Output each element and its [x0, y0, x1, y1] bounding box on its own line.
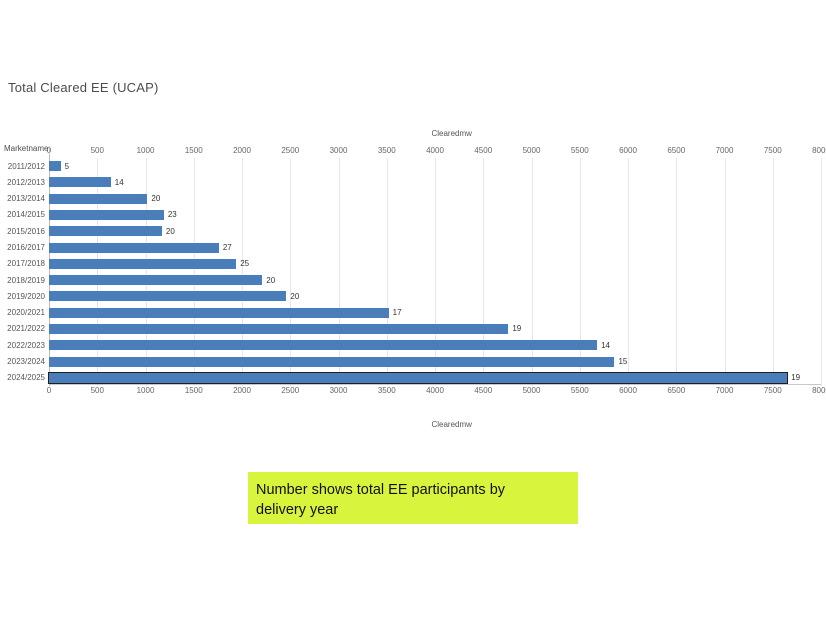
x-tick-label: 8000: [812, 146, 826, 155]
x-tick-label: 6500: [667, 386, 685, 395]
category-label[interactable]: 2021/2022: [0, 324, 45, 333]
x-tick-label: 6500: [667, 146, 685, 155]
x-tick-label: 3000: [330, 386, 348, 395]
bar[interactable]: [49, 324, 508, 334]
annotation-line-2: delivery year: [256, 500, 570, 520]
bar-row[interactable]: 2011/20125: [0, 158, 826, 174]
category-label[interactable]: 2012/2013: [0, 178, 45, 187]
x-tick-label: 5500: [571, 386, 589, 395]
bar-row[interactable]: 2022/202314: [0, 337, 826, 353]
x-tick-label: 1500: [185, 386, 203, 395]
x-tick-label: 2500: [281, 386, 299, 395]
bar-value-label: 25: [240, 259, 249, 268]
category-label[interactable]: 2011/2012: [0, 162, 45, 171]
category-label[interactable]: 2020/2021: [0, 308, 45, 317]
bar-value-label: 20: [151, 194, 160, 203]
x-tick-label: 2000: [233, 146, 251, 155]
page-title: Total Cleared EE (UCAP): [8, 80, 159, 95]
x-tick-label: 3500: [378, 386, 396, 395]
x-tick-label: 2000: [233, 386, 251, 395]
row-field-header: Marketname: [4, 144, 48, 153]
bar-row[interactable]: 2019/202020: [0, 288, 826, 304]
bar-row[interactable]: 2017/201825: [0, 256, 826, 272]
category-label[interactable]: 2022/2023: [0, 341, 45, 350]
x-tick-label: 1000: [137, 146, 155, 155]
category-label[interactable]: 2014/2015: [0, 210, 45, 219]
bar-row[interactable]: 2020/202117: [0, 305, 826, 321]
plot-area: 2011/201252012/2013142013/2014202014/201…: [0, 158, 826, 386]
bar-value-label: 19: [512, 324, 521, 333]
bar-value-label: 17: [393, 308, 402, 317]
x-tick-label: 6000: [619, 386, 637, 395]
bar[interactable]: [49, 259, 236, 269]
axis-title-bottom: Clearedmw: [431, 420, 471, 429]
x-tick-label: 6000: [619, 146, 637, 155]
x-tick-label: 7500: [764, 386, 782, 395]
x-tick-label: 5000: [523, 386, 541, 395]
x-tick-label: 500: [91, 146, 104, 155]
bar[interactable]: [49, 308, 389, 318]
x-axis-line: [49, 384, 821, 385]
bar-row[interactable]: 2013/201420: [0, 191, 826, 207]
bar[interactable]: [49, 226, 162, 236]
annotation-callout: Number shows total EE participants by de…: [248, 472, 578, 524]
bar[interactable]: [49, 243, 219, 253]
x-tick-label: 7500: [764, 146, 782, 155]
bar-value-label: 14: [115, 178, 124, 187]
category-label[interactable]: 2023/2024: [0, 357, 45, 366]
bar-value-label: 19: [791, 373, 800, 382]
x-tick-label: 3500: [378, 146, 396, 155]
x-tick-label: 4500: [474, 386, 492, 395]
category-label[interactable]: 2019/2020: [0, 292, 45, 301]
slide-canvas: Total Cleared EE (UCAP) Clearedmw Cleare…: [0, 0, 826, 620]
x-tick-label: 1000: [137, 386, 155, 395]
bar-value-label: 20: [166, 227, 175, 236]
category-label[interactable]: 2015/2016: [0, 227, 45, 236]
bar-row[interactable]: 2014/201523: [0, 207, 826, 223]
x-tick-label: 2500: [281, 146, 299, 155]
bar-value-label: 5: [65, 162, 69, 171]
bar-row[interactable]: 2012/201314: [0, 174, 826, 190]
bar-value-label: 23: [168, 210, 177, 219]
x-tick-label: 5000: [523, 146, 541, 155]
x-tick-label: 500: [91, 386, 104, 395]
bar-value-label: 27: [223, 243, 232, 252]
bar-value-label: 14: [601, 341, 610, 350]
bar-chart: Clearedmw Clearedmw 05001000150020002500…: [0, 128, 826, 428]
bar[interactable]: [49, 194, 147, 204]
bar[interactable]: [49, 161, 61, 171]
x-tick-label: 5500: [571, 146, 589, 155]
bar-row[interactable]: 2023/202415: [0, 353, 826, 369]
x-tick-label: 7000: [716, 146, 734, 155]
category-label[interactable]: 2024/2025: [0, 373, 45, 382]
bar-rows: 2011/201252012/2013142013/2014202014/201…: [0, 158, 826, 386]
axis-title-top: Clearedmw: [431, 129, 471, 138]
bar[interactable]: [49, 275, 262, 285]
x-tick-label: 4000: [426, 386, 444, 395]
bar-row[interactable]: 2016/201727: [0, 239, 826, 255]
y-axis-line: [49, 146, 50, 158]
x-axis-ticks-bottom: 0500100015002000250030003500400045005000…: [0, 386, 826, 398]
bar-row[interactable]: 2018/201920: [0, 272, 826, 288]
x-tick-label: 1500: [185, 146, 203, 155]
category-label[interactable]: 2013/2014: [0, 194, 45, 203]
annotation-line-1: Number shows total EE participants by: [256, 480, 570, 500]
bar[interactable]: [49, 291, 286, 301]
bar-row[interactable]: 2021/202219: [0, 321, 826, 337]
bar-value-label: 15: [618, 357, 627, 366]
bar[interactable]: [49, 373, 787, 383]
bar[interactable]: [49, 340, 597, 350]
bar[interactable]: [49, 357, 614, 367]
x-axis-ticks-top: 0500100015002000250030003500400045005000…: [0, 146, 826, 158]
x-tick-label: 7000: [716, 386, 734, 395]
x-tick-label: 3000: [330, 146, 348, 155]
category-label[interactable]: 2018/2019: [0, 276, 45, 285]
x-tick-label: 8000: [812, 386, 826, 395]
bar[interactable]: [49, 177, 111, 187]
bar-row[interactable]: 2015/201620: [0, 223, 826, 239]
category-label[interactable]: 2016/2017: [0, 243, 45, 252]
bar[interactable]: [49, 210, 164, 220]
x-tick-label: 4000: [426, 146, 444, 155]
bar-value-label: 20: [266, 276, 275, 285]
category-label[interactable]: 2017/2018: [0, 259, 45, 268]
x-tick-label: 0: [47, 386, 51, 395]
bar-value-label: 20: [290, 292, 299, 301]
x-tick-label: 4500: [474, 146, 492, 155]
